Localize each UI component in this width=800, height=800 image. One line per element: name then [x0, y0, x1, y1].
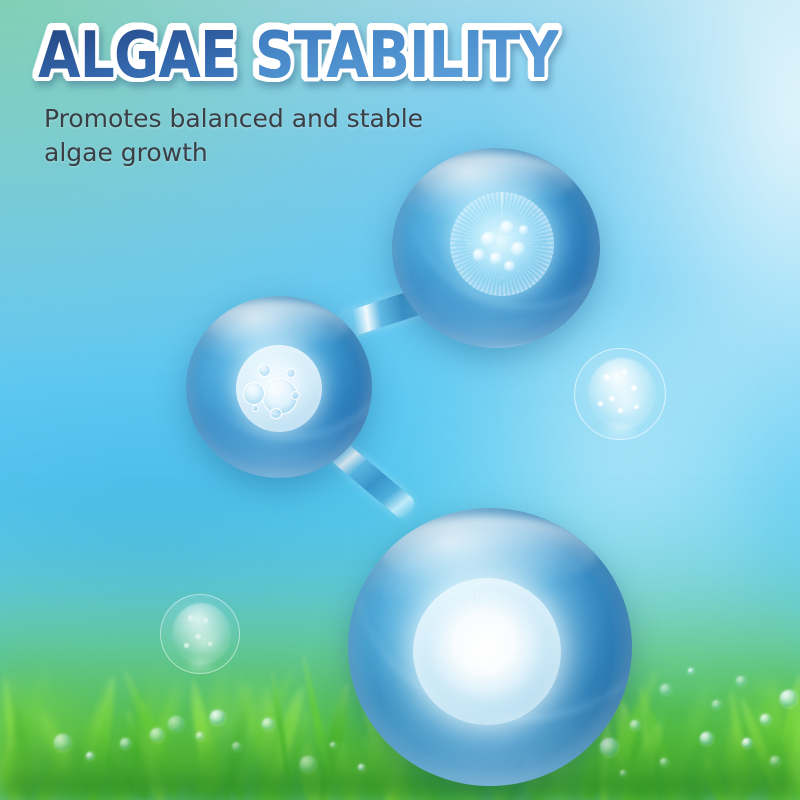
spore-grain	[618, 408, 623, 413]
spore-vesicle	[504, 261, 514, 271]
glowing-white-core	[413, 578, 561, 725]
bubble-bottom-center	[348, 508, 632, 786]
spore-bubble-lower-left	[160, 594, 240, 674]
water-droplet	[262, 718, 274, 730]
bubble-top-gloss	[208, 301, 349, 348]
spore-grain	[188, 615, 193, 620]
spore-bubble-right	[574, 348, 666, 440]
spore-tail	[600, 423, 640, 440]
headline-word-stability: STABILITY	[255, 19, 558, 93]
water-droplet	[688, 668, 694, 674]
spore-vesicle	[490, 252, 502, 264]
page-subtitle: Promotes balanced and stable algae growt…	[44, 102, 474, 169]
banner-text-block: ALGAE STABILITY Promotes balanced and st…	[38, 24, 643, 169]
inner-bubble	[270, 408, 281, 419]
spore-vesicle	[473, 249, 484, 260]
inner-bubble	[243, 382, 265, 405]
headline-word-algae: ALGAE	[38, 19, 255, 93]
spore-spikes	[450, 192, 554, 296]
page-title: ALGAE STABILITY	[38, 24, 558, 88]
inner-bubble	[291, 391, 300, 401]
inner-bubble	[286, 368, 296, 378]
core-starburst	[422, 586, 552, 716]
promo-banner: ALGAE STABILITY Promotes balanced and st…	[0, 0, 800, 800]
micro-bubble-core	[236, 345, 322, 432]
water-droplet	[760, 714, 771, 725]
spore-grain	[203, 618, 208, 623]
spore-cell-body	[172, 603, 231, 665]
inner-bubble	[258, 364, 271, 377]
spore-grain	[208, 642, 212, 646]
spore-grain	[609, 396, 614, 401]
water-droplet	[120, 738, 131, 749]
bubble-middle-left	[186, 296, 372, 478]
spore-vesicle	[519, 225, 528, 234]
spore-grain	[598, 401, 603, 406]
water-droplet	[700, 732, 713, 745]
bubble-top-right	[392, 148, 600, 348]
algae-spore-core	[450, 192, 554, 296]
water-droplet	[210, 710, 225, 725]
spore-vesicle	[500, 221, 514, 235]
spore-vesicle	[481, 232, 497, 248]
water-droplet	[780, 690, 797, 707]
water-droplet	[300, 756, 316, 772]
water-droplet	[660, 684, 671, 695]
inner-bubble	[252, 405, 260, 413]
spore-tail	[183, 659, 217, 674]
